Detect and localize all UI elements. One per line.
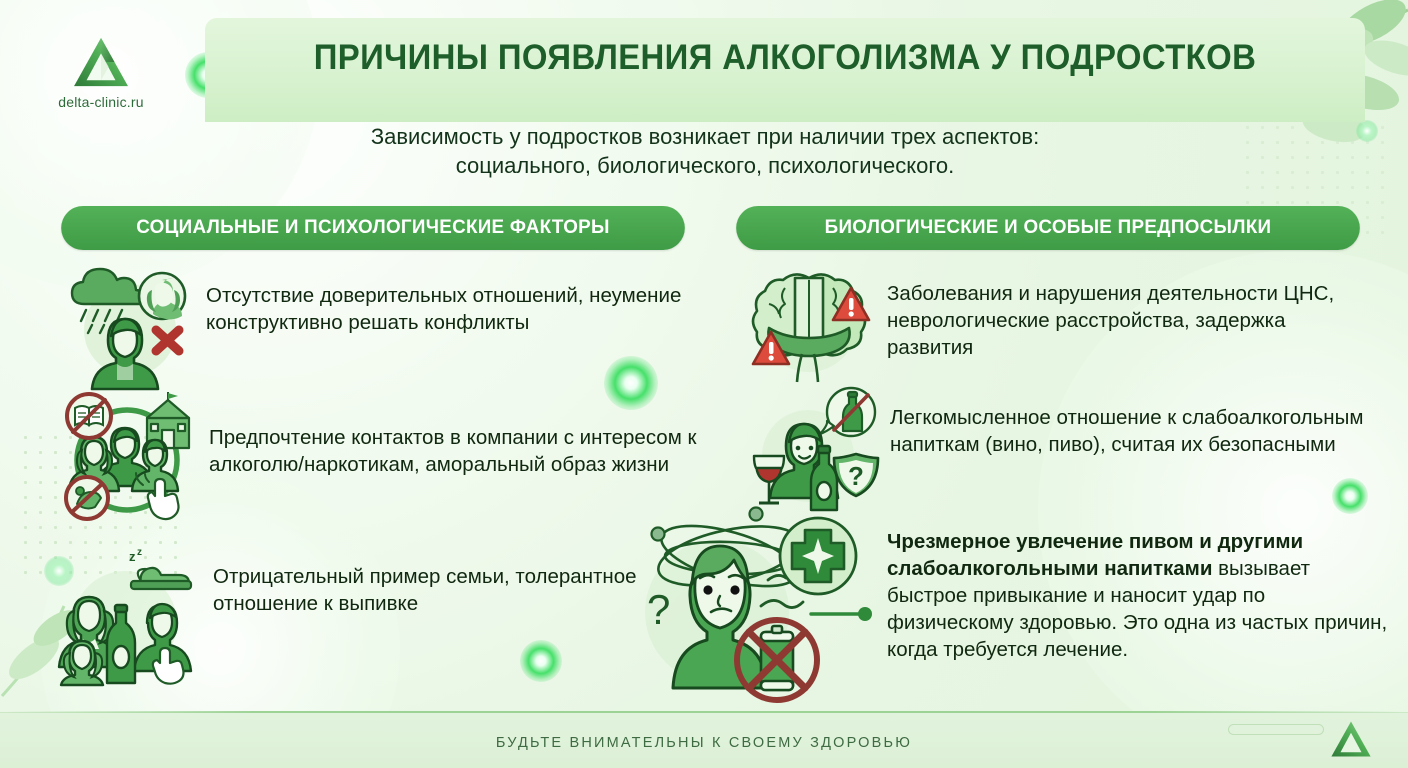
teen-wine-beer-shield-question-icon: ? xyxy=(748,390,880,516)
list-item-social-1-text: Отсутствие доверительных отношений, неум… xyxy=(206,268,706,336)
page-subtitle: Зависимость у подростков возникает при н… xyxy=(240,122,1170,180)
section-heading-biological: БИОЛОГИЧЕСКИЕ И ОСОБЫЕ ПРЕДПОСЫЛКИ xyxy=(736,206,1360,250)
svg-text:?: ? xyxy=(848,461,864,491)
list-item-social-1: Отсутствие доверительных отношений, неум… xyxy=(60,268,710,380)
svg-text:z: z xyxy=(129,549,136,564)
list-item-biological-2: ? Легкомысленное отношение к слабоалкого… xyxy=(748,390,1383,516)
glow-dot-7 xyxy=(1356,120,1378,142)
list-item-biological-1-text: Заболевания и нарушения деятельности ЦНС… xyxy=(887,266,1375,361)
page-title: ПРИЧИНЫ ПОЯВЛЕНИЯ АЛКОГОЛИЗМА У ПОДРОСТК… xyxy=(240,38,1330,78)
footer-delta-triangle-logo-icon[interactable] xyxy=(1330,720,1372,758)
list-item-social-2-text: Предпочтение контактов в компании с инте… xyxy=(209,392,715,478)
family-with-bottle-drunk-parent-icon: z z xyxy=(55,545,201,685)
dizzy-teen-no-beer-can-medical-cross-icon: ? xyxy=(625,500,877,712)
section-heading-social: СОЦИАЛЬНЫЕ И ПСИХОЛОГИЧЕСКИЕ ФАКТОРЫ xyxy=(61,206,685,250)
list-item-social-3: z z xyxy=(55,545,715,685)
footer-pill-decoration xyxy=(1228,724,1324,735)
list-item-biological-3-text: Чрезмерное увлечение пивом и другими сла… xyxy=(887,500,1395,663)
subtitle-line-2: социального, биологического, психологиче… xyxy=(240,151,1170,180)
footer-divider xyxy=(0,711,1408,713)
list-item-biological-1: Заболевания и нарушения деятельности ЦНС… xyxy=(745,266,1375,384)
brain-warning-triangles-icon xyxy=(745,266,875,384)
brand-site-label: delta-clinic.ru xyxy=(58,94,143,110)
delta-triangle-logo-icon xyxy=(72,36,130,88)
svg-text:?: ? xyxy=(647,586,670,633)
list-item-biological-3: ? xyxy=(625,500,1395,712)
subtitle-line-1: Зависимость у подростков возникает при н… xyxy=(240,122,1170,151)
brand-logo[interactable]: delta-clinic.ru xyxy=(16,18,186,128)
peer-group-no-study-no-sport-icon xyxy=(55,392,197,522)
sad-teen-rain-cloud-broken-relationship-icon xyxy=(60,268,192,380)
footer-slogan: БУДЬТЕ ВНИМАТЕЛЬНЫ К СВОЕМУ ЗДОРОВЬЮ xyxy=(0,735,1408,751)
list-item-social-2: Предпочтение контактов в компании с инте… xyxy=(55,392,715,522)
svg-text:z: z xyxy=(137,547,142,558)
list-item-biological-2-text: Легкомысленное отношение к слабоалкоголь… xyxy=(890,390,1383,458)
